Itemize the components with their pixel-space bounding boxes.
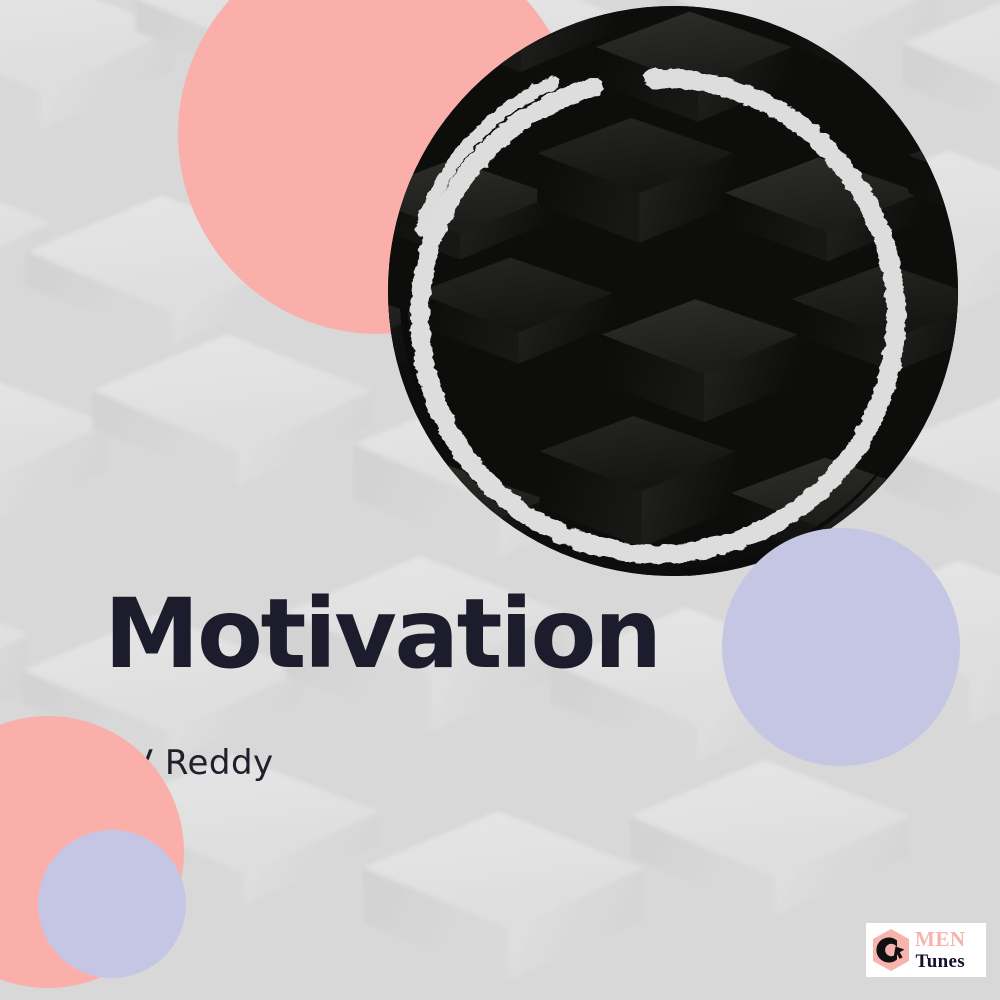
label-name-bottom: Tunes <box>915 952 966 971</box>
page-title: Motivation <box>104 586 660 682</box>
lavender-circle-bottom-left <box>38 830 186 978</box>
c-letter-hexagon-icon <box>868 927 914 973</box>
dark-cube-texture <box>388 6 958 576</box>
album-cover: Motivation KV Reddy MEN Tunes <box>0 0 1000 1000</box>
label-name-top: MEN <box>915 929 966 950</box>
label-wordmark: MEN Tunes <box>915 929 966 971</box>
dark-cube-disc <box>388 6 958 576</box>
record-label-logo: MEN Tunes <box>866 923 986 977</box>
lavender-circle-right <box>722 528 960 766</box>
